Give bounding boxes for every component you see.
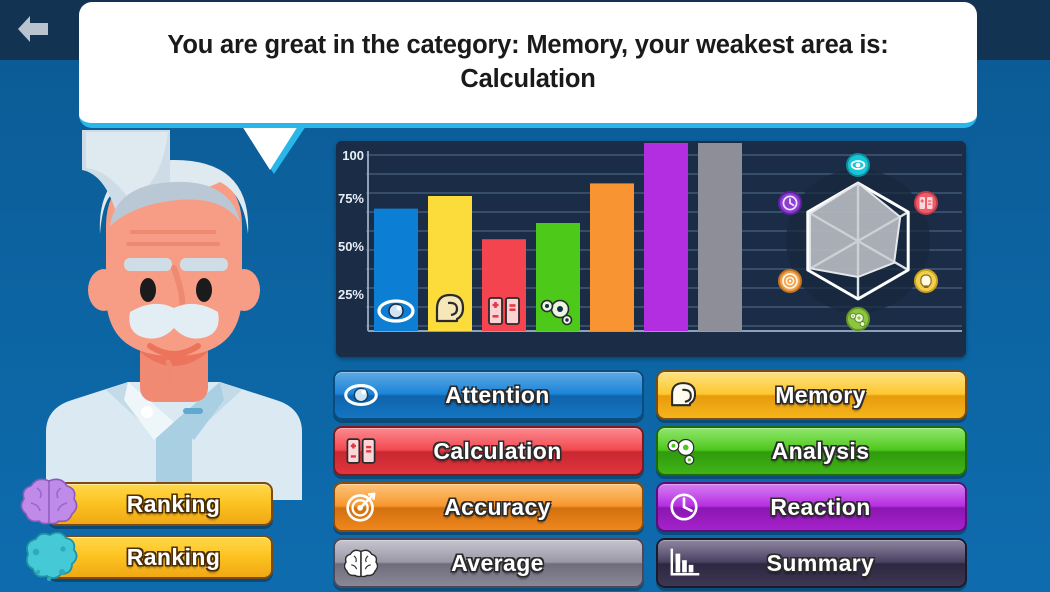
ranking-button-2-label: Ranking — [101, 544, 221, 571]
brain-badge-icon — [18, 477, 80, 535]
ranking-button-2[interactable]: Ranking — [48, 535, 273, 579]
speech-bubble-tail — [240, 126, 310, 176]
avatar — [28, 130, 320, 500]
head-memory-icon — [437, 295, 463, 321]
accuracy-button[interactable]: Accuracy — [333, 482, 644, 532]
average-button-label: Average — [387, 550, 642, 577]
summary-button-label: Summary — [710, 550, 965, 577]
category-buttons: Attention Memory — [333, 370, 967, 588]
ranking-button-1-label: Ranking — [101, 491, 221, 518]
app-screen: You are great in the category: Memory, y… — [0, 0, 1050, 592]
calculation-button-label: Calculation — [387, 438, 642, 465]
target-icon — [335, 484, 387, 530]
memory-button[interactable]: Memory — [656, 370, 967, 420]
stats-chart-panel: 100 75% 50% 25% — [336, 141, 966, 357]
head-memory-icon — [658, 372, 710, 418]
summary-button[interactable]: Summary — [656, 538, 967, 588]
analysis-button[interactable]: Analysis — [656, 426, 967, 476]
brain-icon — [335, 540, 387, 586]
calculator-icon — [335, 428, 387, 474]
accuracy-button-label: Accuracy — [387, 494, 642, 521]
radar-icon-accuracy — [779, 270, 801, 292]
bar-accuracy — [590, 183, 634, 331]
radar-icon-calculation — [915, 192, 937, 214]
memory-button-label: Memory — [710, 382, 965, 409]
speech-bubble-text: You are great in the category: Memory, y… — [79, 29, 977, 96]
ranking-button-1[interactable]: Ranking — [48, 482, 273, 526]
svg-text:100: 100 — [342, 148, 364, 163]
radar-icon-memory — [915, 270, 937, 292]
radar-icon-attention — [847, 154, 869, 176]
calculation-button[interactable]: Calculation — [333, 426, 644, 476]
bar-average — [698, 143, 742, 331]
attention-button-label: Attention — [387, 382, 642, 409]
bar-reaction — [644, 143, 688, 331]
chart-inner: 100 75% 50% 25% — [336, 141, 966, 357]
svg-text:75%: 75% — [338, 191, 364, 206]
radar-chart — [786, 169, 930, 313]
back-arrow-icon[interactable] — [14, 12, 52, 46]
attention-button[interactable]: Attention — [333, 370, 644, 420]
bar-chart-icon — [658, 540, 710, 586]
clock-icon — [658, 484, 710, 530]
analysis-button-label: Analysis — [710, 438, 965, 465]
svg-text:25%: 25% — [338, 287, 364, 302]
radar-icon-reaction — [779, 192, 801, 214]
average-button[interactable]: Average — [333, 538, 644, 588]
eye-icon — [335, 372, 387, 418]
combined-chart: 100 75% 50% 25% — [336, 141, 966, 357]
radar-icon-analysis — [847, 308, 869, 330]
reaction-button[interactable]: Reaction — [656, 482, 967, 532]
svg-text:50%: 50% — [338, 239, 364, 254]
reaction-button-label: Reaction — [710, 494, 965, 521]
amoeba-badge-icon — [18, 532, 80, 590]
gears-icon — [658, 428, 710, 474]
ranking-buttons: Ranking 16 Ranking — [18, 482, 273, 584]
speech-bubble: You are great in the category: Memory, y… — [79, 2, 977, 128]
